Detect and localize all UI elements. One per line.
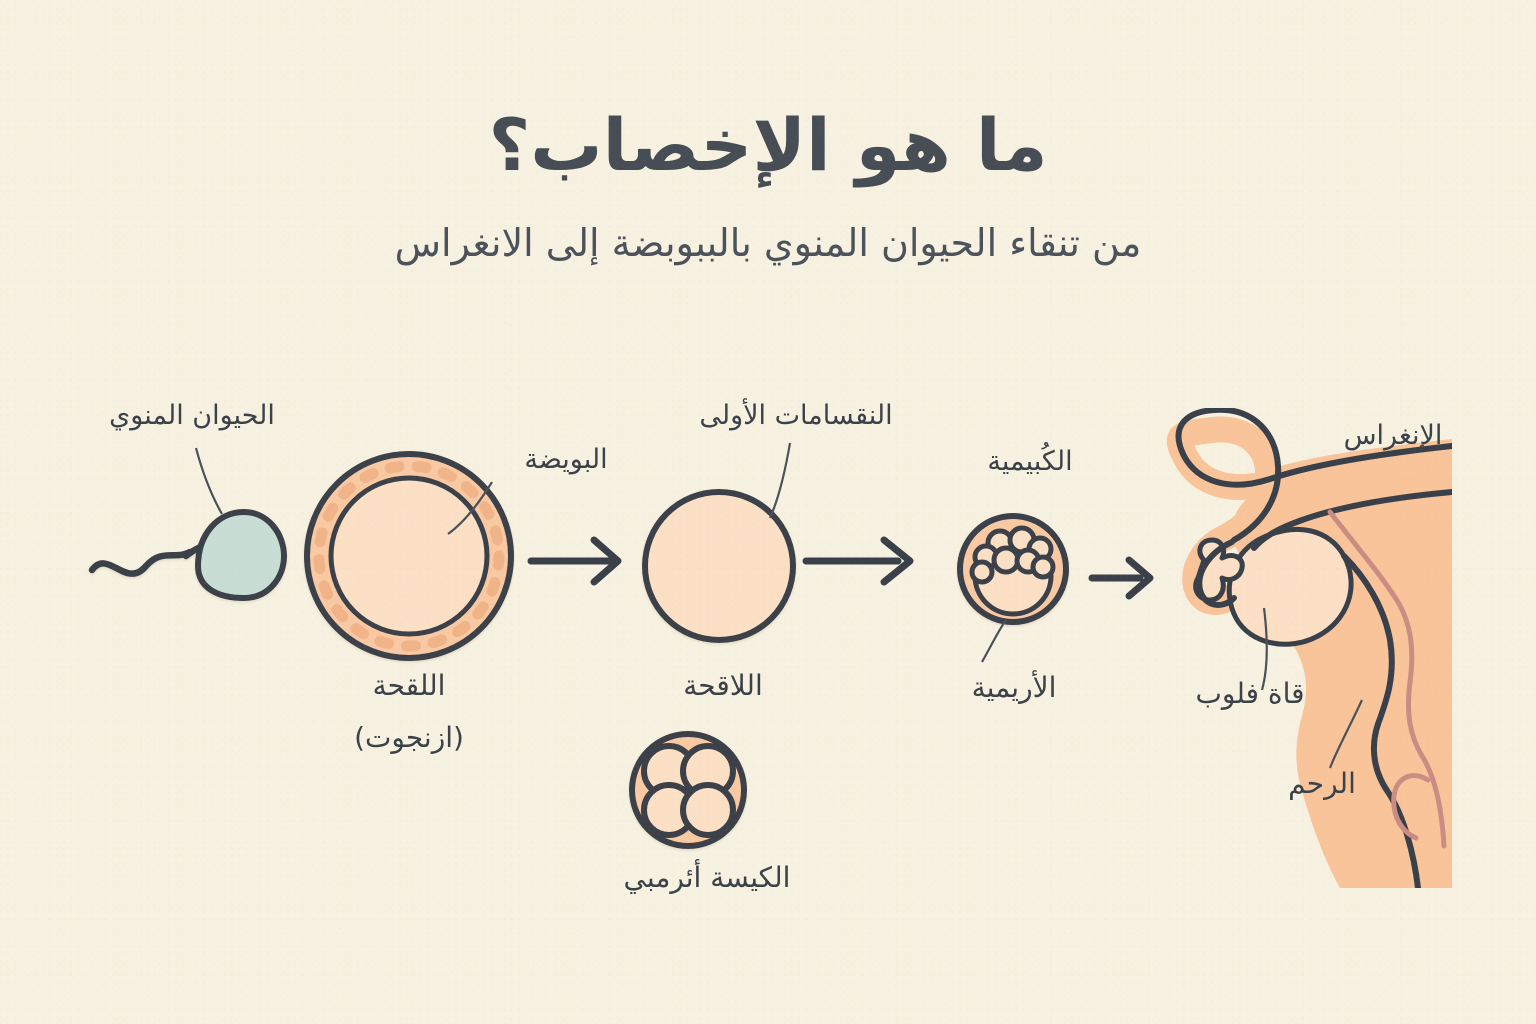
blastocyst-leader-line <box>982 620 1006 662</box>
uterus-anatomy-icon <box>1179 410 1452 888</box>
label-uterus: الرحم <box>1272 768 1372 800</box>
arrow-2 <box>806 540 910 582</box>
morula-four-cell-icon <box>632 734 744 846</box>
label-implantation: الإنغراس <box>1318 420 1468 451</box>
zygote-leader-line <box>770 443 790 518</box>
caption-morula: الكيسة أئرمبي <box>578 862 836 894</box>
caption-cleavage: اللاقحة <box>628 670 818 702</box>
label-first-divisions: النقسامات الأولى <box>656 400 936 431</box>
label-fallopian-tube: قاة فلوب <box>1166 678 1334 710</box>
label-sperm: الحيوان المنوي <box>72 400 312 431</box>
caption-zygote-line2: (ازنجوت) <box>309 722 509 754</box>
arrow-1 <box>531 540 618 582</box>
label-ovum: البويضة <box>486 444 646 475</box>
arrow-3 <box>1092 560 1150 596</box>
blastocyst-icon <box>960 516 1066 622</box>
caption-blastula: الأريمية <box>924 672 1104 704</box>
label-blastocyst: الكُبيمية <box>940 446 1120 477</box>
ovum-icon <box>307 454 511 658</box>
caption-zygote-line1: اللقحة <box>309 670 509 702</box>
infographic-canvas: ما هو الإخصاب؟ من تنقاء الحيوان المنوي ب… <box>0 0 1536 1024</box>
sperm-icon <box>92 512 284 598</box>
sperm-leader-line <box>196 448 222 514</box>
